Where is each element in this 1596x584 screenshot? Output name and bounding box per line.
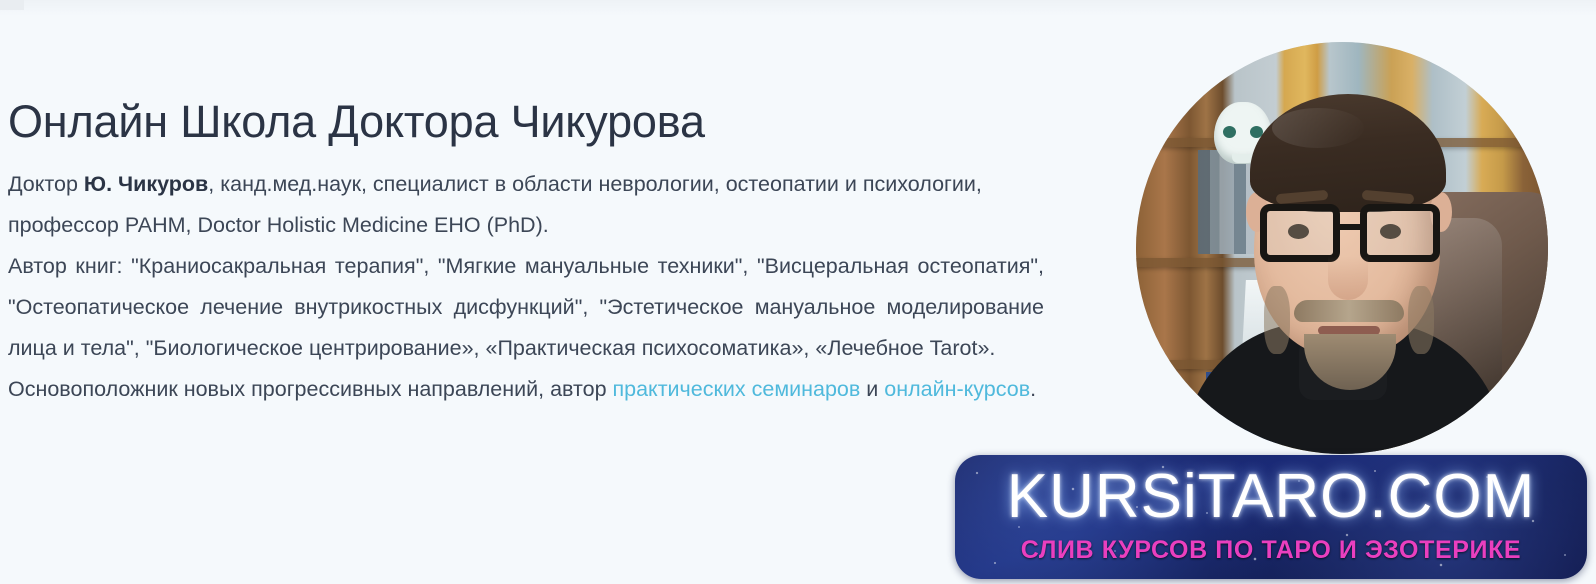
- bio-content: Онлайн Школа Доктора Чикурова Доктор Ю. …: [8, 96, 1044, 410]
- page-root: Онлайн Школа Доктора Чикурова Доктор Ю. …: [0, 0, 1596, 584]
- watermark-site-name: KURSiTARO.COM: [955, 461, 1587, 532]
- beard-cheek-left: [1264, 286, 1290, 354]
- bio-founder-prefix: Основоположник новых прогрессивных напра…: [8, 377, 613, 401]
- nose: [1328, 238, 1368, 300]
- bio-books-text: Автор книг: "Краниосакральная терапия", …: [8, 254, 1044, 360]
- watermark-banner: KURSiTARO.COM СЛИВ КУРСОВ ПО ТАРО И ЭЗОТ…: [955, 455, 1587, 579]
- moustache: [1294, 300, 1404, 322]
- doctor-portrait-photo: [1136, 42, 1548, 454]
- page-title: Онлайн Школа Доктора Чикурова: [8, 96, 1044, 148]
- glasses-bridge: [1340, 224, 1362, 230]
- link-online-courses[interactable]: онлайн-курсов: [884, 377, 1030, 401]
- beard-cheek-right: [1408, 286, 1434, 354]
- lens-right: [1360, 204, 1440, 262]
- link-seminars[interactable]: семинаров: [752, 377, 861, 401]
- portrait-image: [1136, 42, 1548, 454]
- bio-founder-suffix: .: [1030, 377, 1036, 401]
- person-figure: [1136, 42, 1548, 454]
- bio-founder-sep2: и: [860, 377, 884, 401]
- bio-paragraph-credentials: Доктор Ю. Чикуров, канд.мед.наук, специа…: [8, 164, 1044, 246]
- bio-paragraph-books: Автор книг: "Краниосакральная терапия", …: [8, 246, 1044, 369]
- page-top-strip: [0, 0, 1596, 16]
- bio-credentials-prefix: Доктор: [8, 172, 84, 196]
- watermark-tagline: СЛИВ КУРСОВ ПО ТАРО И ЭЗОТЕРИКЕ: [955, 536, 1587, 565]
- link-practical[interactable]: практических: [613, 377, 746, 401]
- page-edge-nib: [0, 0, 24, 10]
- bio-paragraph-founder: Основоположник новых прогрессивных напра…: [8, 369, 1044, 410]
- bio-text-block: Доктор Ю. Чикуров, канд.мед.наук, специа…: [8, 164, 1044, 410]
- doctor-name: Ю. Чикуров: [84, 172, 208, 196]
